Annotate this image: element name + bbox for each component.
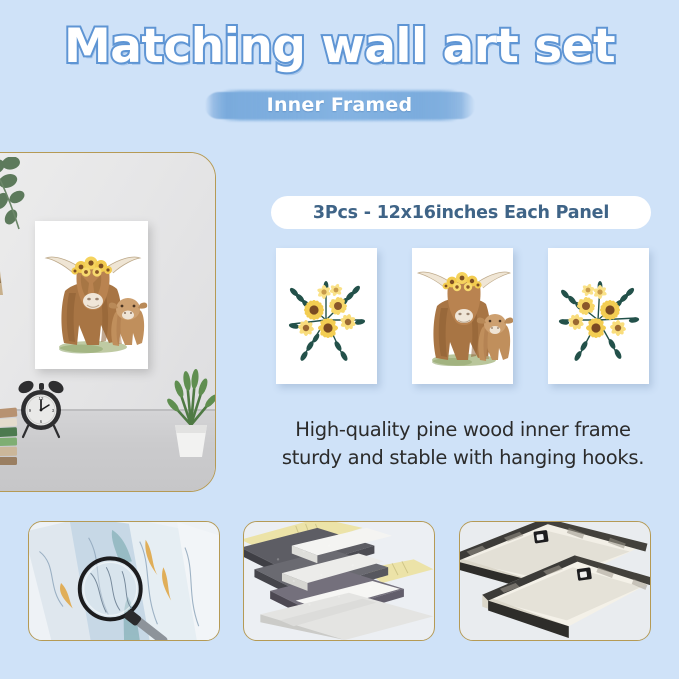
panel-highland-cow-center: [412, 248, 513, 384]
stacked-canvas-panels-image: [244, 522, 434, 640]
panel-preview-row: [268, 248, 656, 396]
brush-stroke-shape: Inner Framed: [205, 90, 475, 121]
size-badge-label: 3Pcs - 12x16inches Each Panel: [313, 203, 609, 223]
subtitle-banner: Inner Framed: [0, 88, 679, 122]
description-line-2: sturdy and stable with hanging hooks.: [268, 444, 658, 472]
sunflower-bouquet-artwork: [548, 248, 649, 384]
description-line-1: High-quality pine wood inner frame: [268, 416, 658, 444]
stacked-books-icon: [0, 403, 21, 465]
subtitle-label: Inner Framed: [267, 94, 413, 116]
sunflower-bouquet-artwork: [276, 248, 377, 384]
highland-cow-artwork-small: [412, 248, 513, 384]
room-scene-inner: 123 69: [0, 153, 215, 491]
product-description: High-quality pine wood inner frame sturd…: [268, 416, 658, 473]
panel-sunflower-left: [276, 248, 377, 384]
thumb-packaged-panels-stack: [243, 521, 435, 641]
frame-back-hanging-hooks-image: [460, 522, 650, 640]
wall-canvas-artwork: [35, 221, 148, 369]
room-scene-photo: 123 69: [0, 152, 216, 492]
rolled-canvas-magnifier-image: [29, 522, 219, 640]
alarm-clock-icon: 123 69: [15, 375, 67, 439]
header: Matching wall art set Inner Framed: [0, 0, 679, 140]
highland-cow-artwork-large: [35, 221, 148, 369]
thumb-canvas-texture-closeup: [28, 521, 220, 641]
pencil-holder-icon: [0, 269, 7, 295]
page-title: Matching wall art set: [0, 22, 679, 73]
thumb-frame-back-hooks: [459, 521, 651, 641]
size-badge: 3Pcs - 12x16inches Each Panel: [271, 196, 651, 229]
panel-sunflower-right: [548, 248, 649, 384]
potted-succulent-icon: [165, 367, 216, 459]
